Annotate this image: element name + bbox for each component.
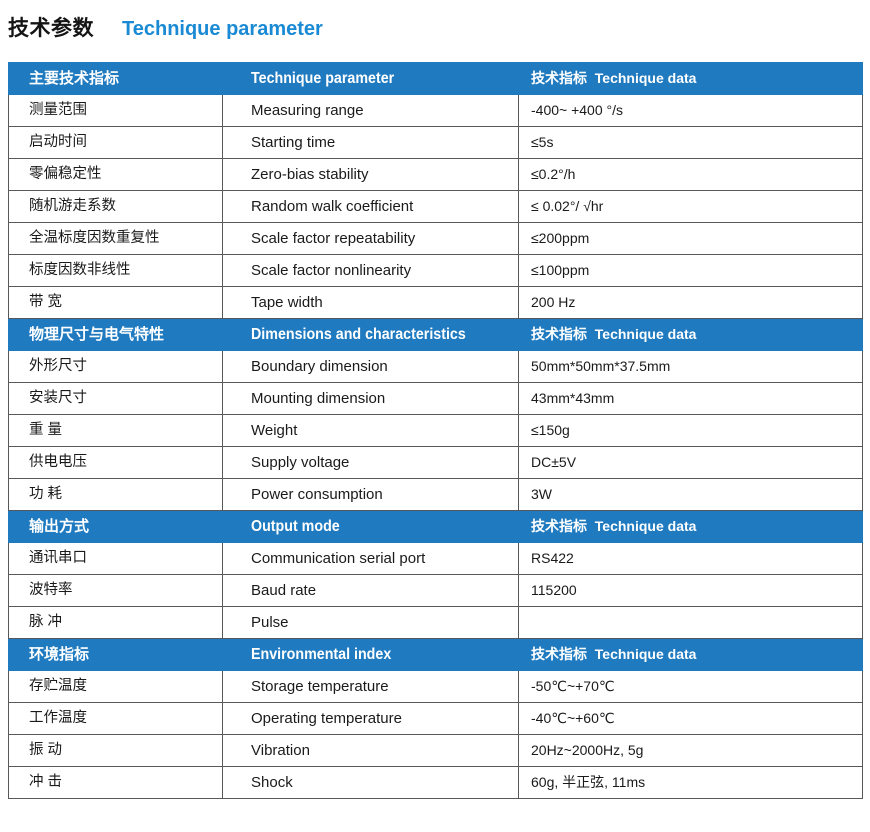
row-label-chinese: 功 耗 [9,479,223,511]
section-header-english: Technique parameter [223,63,519,95]
row-value: 43mm*43mm [519,383,863,415]
row-value: RS422 [519,543,863,575]
data-column-label-english: Technique data [595,518,697,534]
row-label-english: Operating temperature [223,703,519,735]
row-value: 3W [519,479,863,511]
section-header-row: 输出方式Output mode技术指标 Technique data [9,511,863,543]
data-column-label-english: Technique data [595,646,697,662]
table-row: 安装尺寸Mounting dimension43mm*43mm [9,383,863,415]
row-label-english: Baud rate [223,575,519,607]
table-row: 脉 冲Pulse [9,607,863,639]
table-row: 全温标度因数重复性Scale factor repeatability≤200p… [9,223,863,255]
table-row: 测量范围Measuring range-400~ +400 °/s [9,95,863,127]
row-label-english: Scale factor repeatability [223,223,519,255]
row-label-english: Tape width [223,287,519,319]
data-column-label-chinese: 技术指标 [531,70,587,86]
page-title-english: Technique parameter [122,18,323,41]
row-label-english: Power consumption [223,479,519,511]
row-value: ≤200ppm [519,223,863,255]
row-label-chinese: 标度因数非线性 [9,255,223,287]
section-header-row: 物理尺寸与电气特性Dimensions and characteristics技… [9,319,863,351]
row-label-english: Storage temperature [223,671,519,703]
row-label-english: Starting time [223,127,519,159]
row-label-english: Mounting dimension [223,383,519,415]
data-column-label-english: Technique data [595,70,697,86]
row-value: 115200 [519,575,863,607]
row-value: 20Hz~2000Hz, 5g [519,735,863,767]
section-header-chinese: 主要技术指标 [9,63,223,95]
table-row: 外形尺寸Boundary dimension50mm*50mm*37.5mm [9,351,863,383]
row-value: -50℃~+70℃ [519,671,863,703]
row-label-chinese: 零偏稳定性 [9,159,223,191]
table-row: 波特率Baud rate115200 [9,575,863,607]
row-label-english: Random walk coefficient [223,191,519,223]
row-label-chinese: 波特率 [9,575,223,607]
specification-table: 主要技术指标Technique parameter技术指标 Technique … [8,62,863,799]
row-label-chinese: 工作温度 [9,703,223,735]
section-header-english: Environmental index [223,639,519,671]
section-header-english: Output mode [223,511,519,543]
data-column-label-chinese: 技术指标 [531,646,587,662]
row-label-chinese: 供电电压 [9,447,223,479]
section-header-english-text: Dimensions and characteristics [251,326,466,344]
table-row: 工作温度Operating temperature-40℃~+60℃ [9,703,863,735]
specification-table-body: 主要技术指标Technique parameter技术指标 Technique … [9,63,863,799]
row-label-english: Pulse [223,607,519,639]
row-label-chinese: 带 宽 [9,287,223,319]
section-header-english: Dimensions and characteristics [223,319,519,351]
section-header-data-label: 技术指标 Technique data [519,319,863,351]
section-header-english-text: Output mode [251,518,340,536]
row-value: 50mm*50mm*37.5mm [519,351,863,383]
row-label-chinese: 外形尺寸 [9,351,223,383]
table-row: 存贮温度Storage temperature-50℃~+70℃ [9,671,863,703]
row-label-english: Measuring range [223,95,519,127]
table-row: 重 量Weight≤150g [9,415,863,447]
section-header-data-label: 技术指标 Technique data [519,511,863,543]
row-label-chinese: 测量范围 [9,95,223,127]
row-label-chinese: 冲 击 [9,767,223,799]
row-label-chinese: 脉 冲 [9,607,223,639]
section-header-row: 主要技术指标Technique parameter技术指标 Technique … [9,63,863,95]
page-title-chinese: 技术参数 [8,12,94,42]
row-label-english: Scale factor nonlinearity [223,255,519,287]
data-column-label-english: Technique data [595,326,697,342]
table-row: 通讯串口Communication serial portRS422 [9,543,863,575]
table-row: 供电电压Supply voltageDC±5V [9,447,863,479]
row-label-english: Shock [223,767,519,799]
row-label-english: Supply voltage [223,447,519,479]
row-label-english: Zero-bias stability [223,159,519,191]
row-label-english: Vibration [223,735,519,767]
data-column-label-chinese: 技术指标 [531,518,587,534]
row-value: 60g, 半正弦, 11ms [519,767,863,799]
row-value: -400~ +400 °/s [519,95,863,127]
row-label-chinese: 全温标度因数重复性 [9,223,223,255]
row-label-chinese: 启动时间 [9,127,223,159]
table-row: 标度因数非线性Scale factor nonlinearity≤100ppm [9,255,863,287]
row-value: DC±5V [519,447,863,479]
row-value [519,607,863,639]
section-header-english-text: Technique parameter [251,70,394,88]
row-value: ≤0.2°/h [519,159,863,191]
table-row: 振 动Vibration20Hz~2000Hz, 5g [9,735,863,767]
section-header-data-label: 技术指标 Technique data [519,639,863,671]
page-title: 技术参数 Technique parameter [0,0,870,62]
section-header-row: 环境指标Environmental index技术指标 Technique da… [9,639,863,671]
row-label-chinese: 通讯串口 [9,543,223,575]
row-value: 200 Hz [519,287,863,319]
table-row: 功 耗Power consumption3W [9,479,863,511]
section-header-chinese: 输出方式 [9,511,223,543]
row-label-english: Communication serial port [223,543,519,575]
row-label-chinese: 随机游走系数 [9,191,223,223]
table-row: 随机游走系数Random walk coefficient≤ 0.02°/ √h… [9,191,863,223]
row-label-chinese: 重 量 [9,415,223,447]
section-header-chinese: 物理尺寸与电气特性 [9,319,223,351]
table-row: 带 宽Tape width200 Hz [9,287,863,319]
table-row: 冲 击Shock60g, 半正弦, 11ms [9,767,863,799]
row-value: ≤100ppm [519,255,863,287]
section-header-english-text: Environmental index [251,646,391,664]
row-value: ≤150g [519,415,863,447]
row-label-chinese: 安装尺寸 [9,383,223,415]
table-row: 启动时间Starting time≤5s [9,127,863,159]
row-value: ≤5s [519,127,863,159]
row-value: ≤ 0.02°/ √hr [519,191,863,223]
row-label-chinese: 存贮温度 [9,671,223,703]
row-label-chinese: 振 动 [9,735,223,767]
row-value: -40℃~+60℃ [519,703,863,735]
row-label-english: Weight [223,415,519,447]
row-label-english: Boundary dimension [223,351,519,383]
section-header-chinese: 环境指标 [9,639,223,671]
table-row: 零偏稳定性Zero-bias stability≤0.2°/h [9,159,863,191]
section-header-data-label: 技术指标 Technique data [519,63,863,95]
data-column-label-chinese: 技术指标 [531,326,587,342]
